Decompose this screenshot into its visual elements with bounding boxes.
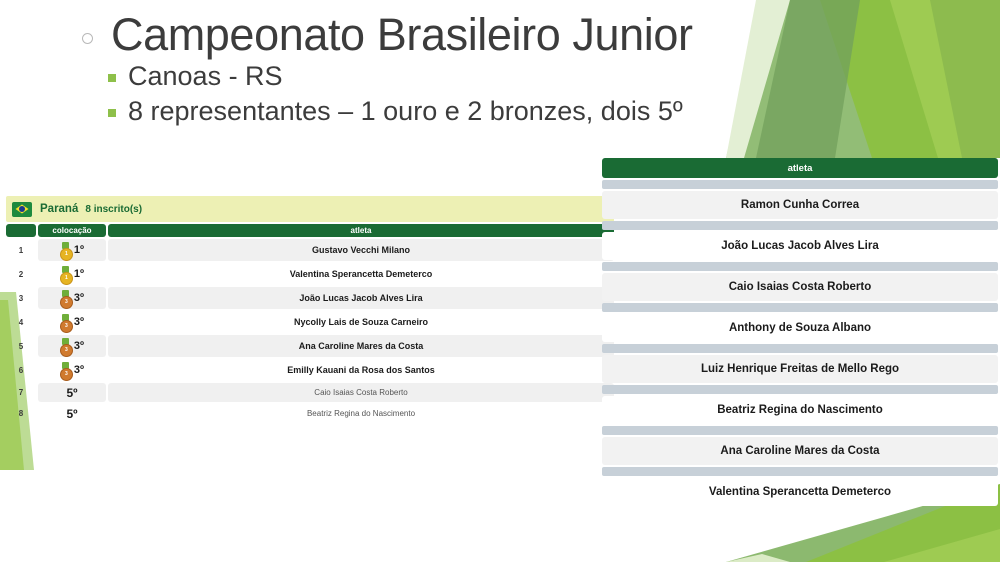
athlete-row-separator (602, 180, 998, 189)
table-row[interactable]: 633ºEmilly Kauani da Rosa dos Santos (6, 359, 614, 381)
row-placement-text: 3º (74, 364, 84, 376)
list-item[interactable]: Ramon Cunha Correa (602, 191, 998, 219)
row-placement-text: 1º (74, 244, 84, 256)
subtitle-row-2: 8 representantes – 1 ouro e 2 bronzes, d… (0, 90, 760, 125)
row-placement-text: 5º (66, 386, 77, 400)
row-index: 1 (6, 239, 36, 261)
results-table-column-headers: colocação atleta (6, 224, 614, 237)
bg-shape-6 (930, 0, 1000, 158)
athlete-row-separator (602, 262, 998, 271)
row-index: 5 (6, 335, 36, 357)
list-item[interactable]: Anthony de Souza Albano (602, 314, 998, 342)
green-square-bullet-icon (108, 74, 116, 82)
athlete-row-separator (602, 426, 998, 435)
row-index: 7 (6, 383, 36, 402)
brazil-flag-icon (12, 202, 32, 217)
row-placement-text: 3º (74, 316, 84, 328)
row-athlete-name: João Lucas Jacob Alves Lira (108, 287, 614, 309)
bg-shape-11 (884, 529, 1000, 562)
row-placement-cell: 33º (38, 311, 106, 333)
bg-shape-3 (890, 0, 1000, 158)
bg-shape-1 (726, 0, 1000, 158)
row-index: 6 (6, 359, 36, 381)
column-header-athlete: atleta (108, 224, 614, 237)
table-row[interactable]: 85ºBeatriz Regina do Nascimento (6, 404, 614, 423)
row-athlete-name: Caio Isaias Costa Roberto (108, 383, 614, 402)
bg-shape-2 (820, 0, 1000, 158)
table-row[interactable]: 75ºCaio Isaias Costa Roberto (6, 383, 614, 402)
row-placement-cell: 11º (38, 239, 106, 261)
bronze-medal-icon: 3 (60, 290, 71, 307)
subtitle-location: Canoas - RS (128, 63, 283, 90)
slide-canvas: Campeonato Brasileiro Junior Canoas - RS… (0, 0, 1000, 562)
registered-count: 8 inscrito(s) (85, 204, 142, 215)
row-index: 8 (6, 404, 36, 423)
row-placement-text: 1º (74, 268, 84, 280)
subtitle-row-1: Canoas - RS (0, 57, 760, 90)
table-row[interactable]: 111ºGustavo Vecchi Milano (6, 239, 614, 261)
bg-shape-sage-top (730, 0, 1000, 160)
row-athlete-name: Valentina Sperancetta Demeterco (108, 263, 614, 285)
results-table-body: 111ºGustavo Vecchi Milano211ºValentina S… (6, 239, 614, 423)
row-placement-cell: 33º (38, 335, 106, 357)
row-placement-text: 3º (74, 340, 84, 352)
row-placement-cell: 5º (38, 404, 106, 423)
row-placement-cell: 33º (38, 287, 106, 309)
row-index: 2 (6, 263, 36, 285)
column-header-index (6, 224, 36, 237)
list-item[interactable]: Caio Isaias Costa Roberto (602, 273, 998, 301)
athlete-row-separator (602, 303, 998, 312)
list-item[interactable]: Valentina Sperancetta Demeterco (602, 478, 998, 506)
results-table-state-header: Paraná 8 inscrito(s) (6, 196, 614, 222)
row-placement-cell: 33º (38, 359, 106, 381)
row-placement-cell: 11º (38, 263, 106, 285)
row-athlete-name: Nycolly Lais de Souza Carneiro (108, 311, 614, 333)
subtitle-summary: 8 representantes – 1 ouro e 2 bronzes, d… (128, 98, 683, 125)
row-index: 3 (6, 287, 36, 309)
list-item[interactable]: Ana Caroline Mares da Costa (602, 437, 998, 465)
athlete-row-separator (602, 467, 998, 476)
athlete-panel-body: Ramon Cunha CorreaJoão Lucas Jacob Alves… (600, 180, 1000, 506)
athlete-panel: atleta Ramon Cunha CorreaJoão Lucas Jaco… (600, 158, 1000, 506)
title-block: Campeonato Brasileiro Junior Canoas - RS… (0, 0, 760, 125)
gold-medal-icon: 1 (60, 242, 71, 259)
gold-medal-icon: 1 (60, 266, 71, 283)
table-row[interactable]: 333ºJoão Lucas Jacob Alves Lira (6, 287, 614, 309)
row-athlete-name: Emilly Kauani da Rosa dos Santos (108, 359, 614, 381)
row-placement-text: 5º (66, 407, 77, 421)
athlete-row-separator (602, 385, 998, 394)
column-header-placement: colocação (38, 224, 106, 237)
page-title: Campeonato Brasileiro Junior (111, 12, 693, 57)
list-item[interactable]: Luiz Henrique Freitas de Mello Rego (602, 355, 998, 383)
row-placement-cell: 5º (38, 383, 106, 402)
bronze-medal-icon: 3 (60, 314, 71, 331)
bronze-medal-icon: 3 (60, 338, 71, 355)
row-athlete-name: Gustavo Vecchi Milano (108, 239, 614, 261)
list-item[interactable]: Beatriz Regina do Nascimento (602, 396, 998, 424)
bg-shape-10 (726, 554, 790, 562)
table-row[interactable]: 533ºAna Caroline Mares da Costa (6, 335, 614, 357)
state-name: Paraná (40, 203, 78, 215)
athlete-row-separator (602, 344, 998, 353)
row-athlete-name: Beatriz Regina do Nascimento (108, 404, 614, 423)
title-row: Campeonato Brasileiro Junior (0, 0, 760, 57)
list-item[interactable]: João Lucas Jacob Alves Lira (602, 232, 998, 260)
table-row[interactable]: 211ºValentina Sperancetta Demeterco (6, 263, 614, 285)
table-row[interactable]: 433ºNycolly Lais de Souza Carneiro (6, 311, 614, 333)
athlete-panel-header: atleta (602, 158, 998, 178)
row-placement-text: 3º (74, 292, 84, 304)
row-athlete-name: Ana Caroline Mares da Costa (108, 335, 614, 357)
hollow-circle-bullet-icon (82, 33, 93, 44)
row-index: 4 (6, 311, 36, 333)
bronze-medal-icon: 3 (60, 362, 71, 379)
green-square-bullet-icon (108, 109, 116, 117)
athlete-row-separator (602, 221, 998, 230)
bg-shape-5 (756, 0, 860, 158)
results-table: Paraná 8 inscrito(s) colocação atleta 11… (6, 196, 614, 423)
